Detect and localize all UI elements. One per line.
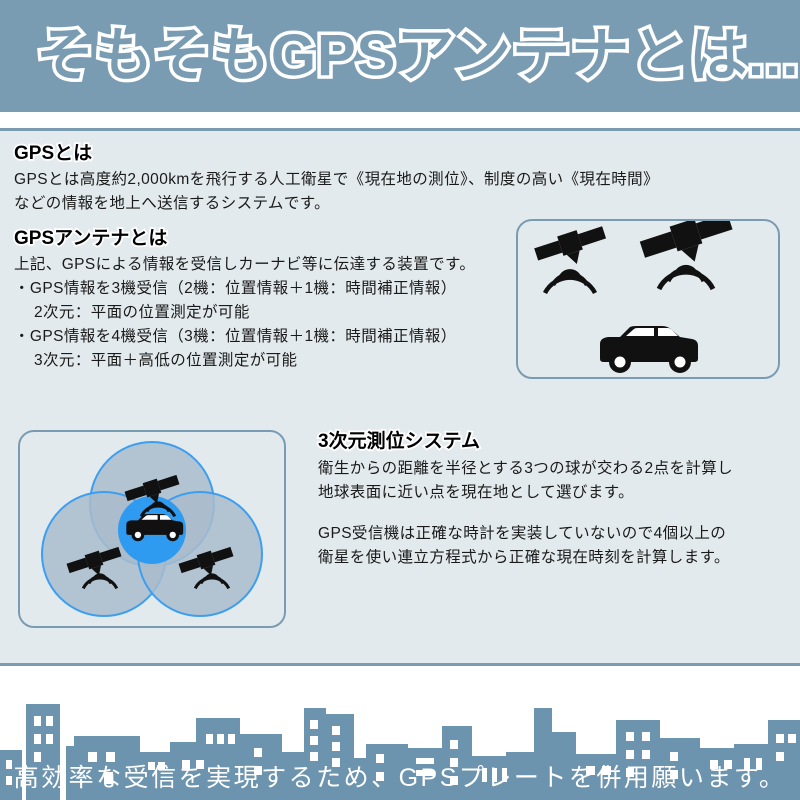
- header-banner: そもそもGPSアンテナとは...: [0, 0, 800, 112]
- list-item: 2次元：平面の位置測定が可能: [14, 301, 475, 325]
- footer: 高効率な受信を実現するため、GPSプレートを併用願います。: [0, 666, 800, 800]
- antenna-bullet-list: ・GPS情報を3機受信（2機：位置情報＋1機：時間補正情報） 2次元：平面の位置…: [14, 277, 475, 373]
- list-item: ・GPS情報を4機受信（3機：位置情報＋1機：時間補正情報）: [14, 325, 475, 349]
- header-gap: [0, 112, 800, 128]
- section-antenna-intro: 上記、GPSによる情報を受信しカーナビ等に伝達する装置です。: [14, 253, 475, 277]
- satellites-car-diagram: [518, 221, 778, 377]
- trilateration-illustration-panel: [18, 430, 286, 628]
- trilateration-diagram: [20, 432, 284, 626]
- car-icon: [600, 326, 698, 373]
- section-three-d-p2-line-1: GPS受信機は正確な時計を実装していないので4個以上の: [318, 522, 788, 546]
- section-gps-line-1: GPSとは高度約2,000kmを飛行する人工衛星で《現在地の測位》、制度の高い《…: [14, 168, 659, 192]
- content-area: GPSとは GPSとは高度約2,000kmを飛行する人工衛星で《現在地の測位》、…: [0, 131, 800, 663]
- signal-waves-icon: [545, 271, 595, 293]
- footer-message: 高効率な受信を実現するため、GPSプレートを併用願います。: [0, 758, 800, 794]
- section-antenna: GPSアンテナとは 上記、GPSによる情報を受信しカーナビ等に伝達する装置です。…: [14, 228, 475, 373]
- section-three-d-p1-line-2: 地球表面に近い点を現在地として選びます。: [318, 481, 788, 505]
- signal-waves-icon: [659, 267, 713, 289]
- section-gps-line-2: などの情報を地上へ送信するシステムです。: [14, 192, 659, 216]
- satellite-icon: [533, 222, 611, 275]
- section-gps-heading: GPSとは: [14, 143, 659, 165]
- section-three-d-heading: 3次元測位システム: [318, 431, 788, 453]
- section-antenna-heading: GPSアンテナとは: [14, 228, 475, 250]
- section-gps: GPSとは GPSとは高度約2,000kmを飛行する人工衛星で《現在地の測位》、…: [14, 143, 659, 216]
- satellite-illustration-panel: [516, 219, 780, 379]
- page-title: そもそもGPSアンテナとは...: [36, 27, 799, 85]
- section-three-d: 3次元測位システム 衛生からの距離を半径とする3つの球が交わる2点を計算し 地球…: [318, 431, 788, 570]
- section-three-d-p2-line-2: 衛星を使い連立方程式から正確な現在時刻を計算します。: [318, 546, 788, 570]
- list-item: ・GPS情報を3機受信（2機：位置情報＋1機：時間補正情報）: [14, 277, 475, 301]
- section-three-d-p1-line-1: 衛生からの距離を半径とする3つの球が交わる2点を計算し: [318, 457, 788, 481]
- list-item: 3次元：平面＋高低の位置測定が可能: [14, 349, 475, 373]
